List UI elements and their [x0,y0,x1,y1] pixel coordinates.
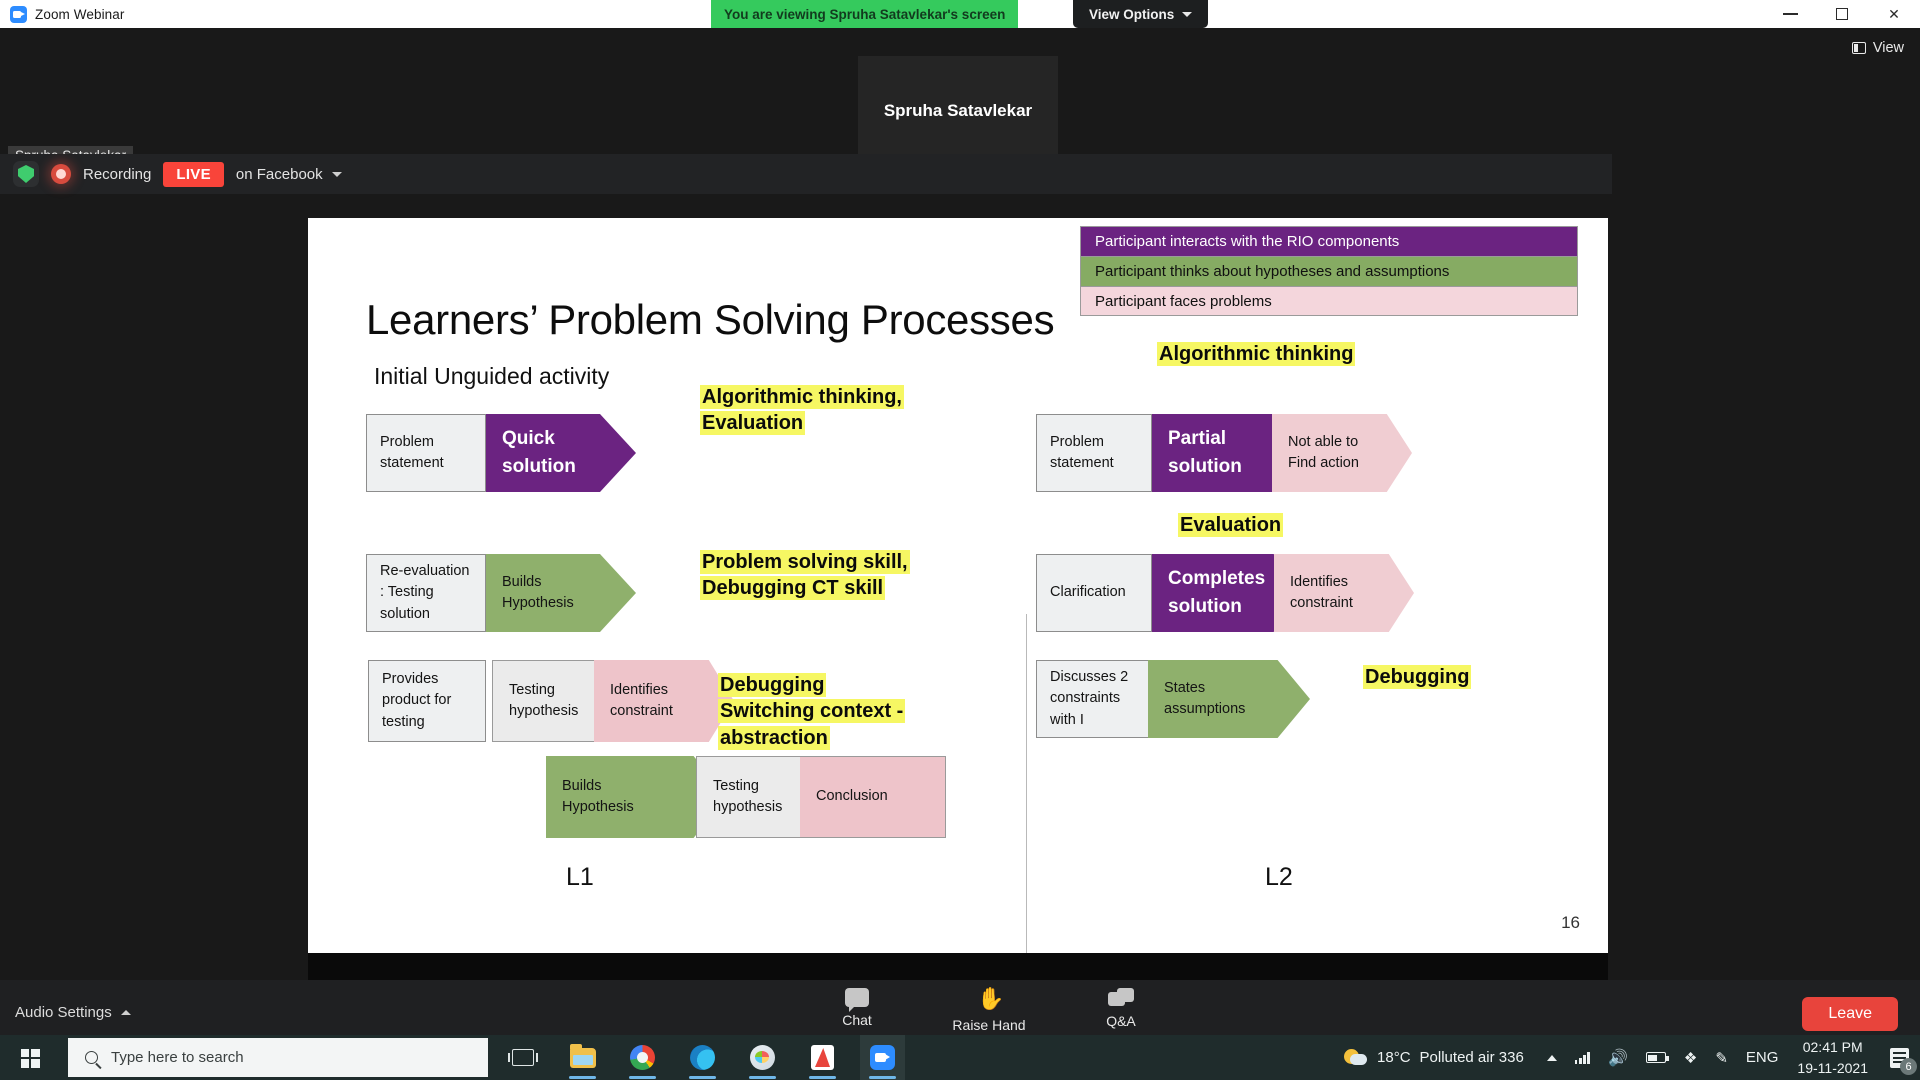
zoom-logo-icon [10,6,27,23]
zoom-app-icon [870,1045,895,1070]
notification-center-button[interactable]: 6 [1878,1035,1920,1080]
clock[interactable]: 02:41 PM 19-11-2021 [1787,1037,1878,1078]
chat-label: Chat [842,1012,872,1028]
dropbox-icon: ❖ [1684,1049,1697,1067]
window-controls: ✕ [1764,0,1920,28]
flow-step-box: Problem statement [1036,414,1152,492]
flow-step-chevron: Identifies constraint [1274,554,1414,632]
acrobat-reader-icon [811,1045,834,1070]
live-platform-button[interactable]: on Facebook [236,166,342,183]
paint-3d-icon [750,1045,775,1070]
slide-page-number: 16 [1561,913,1580,933]
view-button-label: View [1873,40,1904,56]
chevron-down-icon [332,172,342,177]
slide-title: Learners’ Problem Solving Processes [366,296,1054,344]
pen-button[interactable]: ✎ [1706,1049,1737,1067]
flow-annotation: Algorithmic thinking [1157,341,1417,367]
leave-button[interactable]: Leave [1802,997,1898,1031]
audio-settings-label: Audio Settings [15,1004,112,1021]
acrobat-reader-button[interactable] [800,1035,845,1080]
dropbox-button[interactable]: ❖ [1675,1049,1706,1067]
edge-icon [690,1045,715,1070]
flow-annotation: Debugging Switching context - abstractio… [718,672,1048,751]
flow-step-box: Clarification [1036,554,1152,632]
battery-icon [1646,1052,1666,1063]
chevron-down-icon [1182,12,1192,17]
presenter-name: Spruha Satavlekar [858,101,1058,121]
notification-count: 6 [1900,1058,1917,1075]
search-input[interactable]: Type here to search [68,1038,488,1077]
task-view-icon [512,1049,534,1066]
flow-step-box: Discusses 2 constraints with I [1036,660,1152,738]
chrome-button[interactable] [620,1035,665,1080]
zoom-app-button[interactable] [860,1035,905,1080]
chat-icon [845,988,869,1007]
flow-step-chevron: Conclusion [800,756,946,838]
flow-step-chevron: Quick solution [486,414,636,492]
view-layout-button[interactable]: View [1852,40,1904,56]
clock-time: 02:41 PM [1797,1037,1868,1057]
pen-icon: ✎ [1715,1049,1728,1067]
column-divider [1026,614,1027,953]
raise-hand-button[interactable]: ✋ Raise Hand [952,988,1026,1033]
flow-step-chevron: Not able to Find action [1272,414,1412,492]
recording-status-bar: Recording LIVE on Facebook [0,154,1612,194]
task-view-button[interactable] [500,1035,545,1080]
zoom-webinar-window: Zoom Webinar ✕ You are viewing Spruha Sa… [0,0,1920,1080]
grid-view-icon [1852,42,1866,54]
weather-temperature: 18°C [1377,1049,1411,1066]
audio-settings-button[interactable]: Audio Settings [15,1004,131,1021]
system-tray: 18°C Polluted air 336 🔊 ❖ ✎ ENG 02:41 PM… [1344,1035,1920,1080]
legend: Participant interacts with the RIO compo… [1080,226,1578,316]
edge-button[interactable] [680,1035,725,1080]
chevron-up-icon [121,1010,131,1015]
legend-item-pink: Participant faces problems [1080,286,1578,316]
weather-widget[interactable]: 18°C Polluted air 336 [1344,1048,1538,1068]
close-icon: ✕ [1888,7,1900,21]
search-icon [85,1051,98,1064]
windows-taskbar: Type here to search 18°C Polluted air 33… [0,1035,1920,1080]
flow-step-box: Problem statement [366,414,486,492]
chrome-icon [630,1045,655,1070]
network-signal-icon [1575,1051,1590,1064]
weather-icon [1344,1048,1368,1068]
chat-button[interactable]: Chat [820,988,894,1033]
close-button[interactable]: ✕ [1868,0,1920,28]
app-title: Zoom Webinar [35,7,124,22]
file-explorer-button[interactable] [560,1035,605,1080]
flow-step-chevron: States assumptions [1148,660,1310,738]
taskbar-app-list [500,1035,905,1080]
chevron-up-icon [1547,1055,1557,1061]
show-hidden-icons-button[interactable] [1538,1055,1566,1061]
flow-annotation: Evaluation [1178,512,1398,538]
maximize-icon [1836,8,1848,20]
screen-share-banner: You are viewing Spruha Satavlekar's scre… [711,0,1018,28]
raise-hand-icon: ✋ [977,988,1001,1012]
flow-annotation: Problem solving skill, Debugging CT skil… [700,549,1000,602]
view-options-button[interactable]: View Options [1073,0,1208,28]
speaker-icon: 🔊 [1608,1048,1628,1068]
live-platform-label: on Facebook [236,166,323,183]
clock-date: 19-11-2021 [1797,1058,1868,1078]
presenter-video-tile[interactable]: Spruha Satavlekar [858,56,1058,164]
weather-description: Polluted air 336 [1420,1049,1524,1066]
language-button[interactable]: ENG [1737,1049,1788,1066]
recording-dot-icon [51,164,71,184]
legend-item-green: Participant thinks about hypotheses and … [1080,256,1578,286]
legend-item-purple: Participant interacts with the RIO compo… [1080,226,1578,256]
windows-start-icon [21,1049,40,1068]
slide-subtitle: Initial Unguided activity [374,363,609,390]
language-label: ENG [1746,1049,1779,1066]
view-options-label: View Options [1089,7,1174,22]
raise-hand-label: Raise Hand [952,1017,1025,1033]
minimize-icon [1783,13,1798,15]
maximize-button[interactable] [1816,0,1868,28]
qa-button[interactable]: Q&A [1084,988,1158,1033]
recording-label: Recording [83,166,151,183]
qa-label: Q&A [1106,1013,1136,1029]
app-identity: Zoom Webinar [0,6,124,23]
shared-screen-stage: View Spruha Satavlekar Spruha Satavlekar… [0,28,1920,980]
column-label-l1: L1 [566,863,594,892]
column-label-l2: L2 [1265,863,1293,892]
presentation-slide: Learners’ Problem Solving Processes Init… [308,218,1608,953]
minimize-button[interactable] [1764,0,1816,28]
toolbar-items: Chat ✋ Raise Hand Q&A [820,988,1158,1033]
flow-step-chevron: Identifies constraint [594,660,734,742]
search-placeholder: Type here to search [111,1049,244,1066]
file-explorer-icon [570,1048,596,1068]
flow-step-box: Re-evaluation : Testing solution [366,554,486,632]
network-button[interactable] [1566,1051,1599,1064]
flow-step-box: Provides product for testing [368,660,486,742]
flow-annotation: Debugging [1363,664,1543,690]
security-shield-icon[interactable] [13,161,39,187]
qa-icon [1108,988,1134,1008]
flow-annotation: Algorithmic thinking, Evaluation [700,384,990,437]
live-badge: LIVE [163,162,224,187]
volume-button[interactable]: 🔊 [1599,1048,1637,1068]
battery-button[interactable] [1637,1052,1675,1063]
flow-step-chevron: Builds Hypothesis [486,554,636,632]
start-button[interactable] [8,1041,52,1075]
paint-3d-button[interactable] [740,1035,785,1080]
